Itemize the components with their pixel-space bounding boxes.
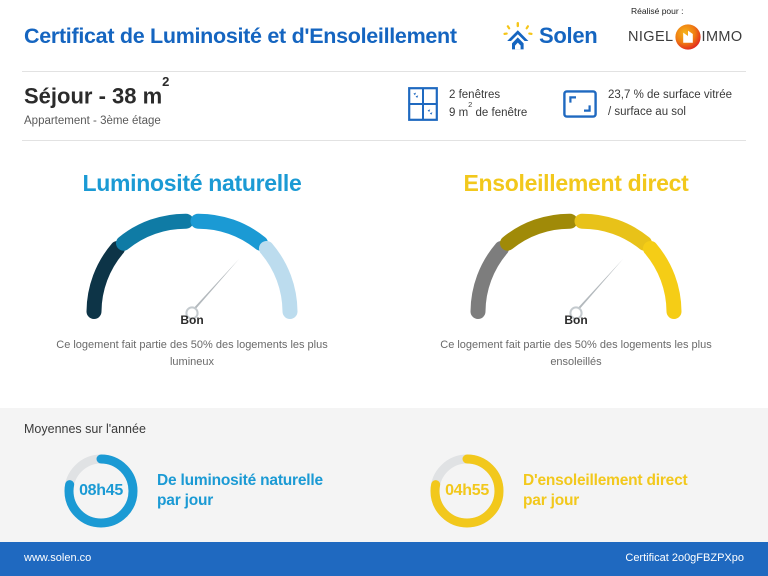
donut-value-ensoleillement: 04h55 (428, 452, 506, 530)
nigel-text-left: NIGEL (628, 29, 674, 45)
room-title-superscript: 2 (162, 74, 169, 89)
average-luminosite: 08h45 De luminosité naturelle par jour (62, 452, 323, 530)
page-title: Certificat de Luminosité et d'Ensoleille… (24, 24, 457, 49)
footer-website-link[interactable]: www.solen.co (24, 552, 91, 564)
gauge-segment-3 (582, 221, 645, 243)
page-header: Certificat de Luminosité et d'Ensoleille… (0, 0, 768, 68)
gauge-needle-luminosite (186, 259, 239, 319)
fact-windows-text: 2 fenêtres 9 m2 de fenêtre (449, 87, 527, 121)
gauge-segment-1 (478, 249, 502, 312)
average-label-luminosite-line1: De luminosité naturelle (157, 472, 323, 489)
gauge-segment-2 (124, 221, 187, 243)
averages-section: Moyennes sur l'année 08h45 De luminosité… (0, 408, 768, 542)
gauge-caption-luminosite: Ce logement fait partie des 50% des loge… (34, 337, 350, 370)
average-label-luminosite: De luminosité naturelle par jour (157, 471, 323, 511)
average-label-ensoleillement-line2: par jour (523, 492, 579, 509)
gauge-dial-ensoleillement (460, 207, 692, 330)
room-title: Séjour - 38 m2 (24, 83, 169, 109)
fact-glazing-line1: 23,7 % de surface vitrée (608, 89, 732, 101)
fact-windows-line1: 2 fenêtres (449, 89, 500, 101)
gauge-segment-3 (198, 221, 261, 243)
solen-wordmark: Solen (539, 23, 597, 49)
average-label-ensoleillement: D'ensoleillement direct par jour (523, 471, 687, 511)
gauge-panel-luminosite: Luminosité naturelle Bon Ce logement fai… (0, 155, 384, 400)
gauge-panel-ensoleillement: Ensoleillement direct Bon Ce logement fa… (384, 155, 768, 400)
fact-glazing-text: 23,7 % de surface vitrée / surface au so… (608, 87, 732, 120)
divider-top (22, 71, 746, 72)
donut-luminosite: 08h45 (62, 452, 140, 530)
divider-middle (22, 140, 746, 141)
fact-windows: 2 fenêtres 9 m2 de fenêtre (408, 87, 527, 121)
realise-pour-label: Réalisé pour : (631, 6, 683, 16)
floor-area-icon (563, 90, 597, 118)
gauge-segment-2 (508, 221, 571, 243)
fact-glazing-line2: / surface au sol (608, 106, 686, 118)
average-ensoleillement: 04h55 D'ensoleillement direct par jour (428, 452, 687, 530)
gauge-needle-ensoleillement (570, 259, 623, 319)
average-label-luminosite-line2: par jour (157, 492, 213, 509)
gauge-segment-4 (651, 249, 675, 312)
fact-glazing-ratio: 23,7 % de surface vitrée / surface au so… (563, 87, 732, 120)
certificate-page: Certificat de Luminosité et d'Ensoleille… (0, 0, 768, 576)
sun-house-icon (503, 22, 533, 50)
fact-windows-line2-sup: 2 (468, 100, 472, 109)
footer-certificate-id: Certificat 2o0gFBZPXpo (625, 552, 744, 564)
gauge-dial-luminosite (76, 207, 308, 330)
gauge-segment-4 (267, 249, 291, 312)
gauge-heading-ensoleillement: Ensoleillement direct (384, 170, 768, 197)
gauge-caption-ensoleillement: Ce logement fait partie des 50% des loge… (418, 337, 734, 370)
average-label-ensoleillement-line1: D'ensoleillement direct (523, 472, 687, 489)
nigel-immo-logo: NIGEL IMMO (628, 24, 743, 50)
page-footer: www.solen.co Certificat 2o0gFBZPXpo (0, 542, 768, 576)
gauge-heading-luminosite: Luminosité naturelle (0, 170, 384, 197)
nigel-house-badge-icon (675, 24, 701, 50)
room-subtitle: Appartement - 3ème étage (24, 115, 161, 127)
gauge-rating-ensoleillement: Bon (384, 313, 768, 327)
fact-windows-line2-post: de fenêtre (472, 107, 527, 119)
gauge-rating-luminosite: Bon (0, 313, 384, 327)
nigel-text-right: IMMO (702, 29, 743, 45)
donut-value-luminosite: 08h45 (62, 452, 140, 530)
averages-title: Moyennes sur l'année (24, 422, 146, 436)
window-grid-icon (408, 87, 438, 121)
solen-logo: Solen (503, 22, 597, 50)
donut-ensoleillement: 04h55 (428, 452, 506, 530)
fact-windows-line2-pre: 9 m (449, 107, 468, 119)
gauge-segment-1 (94, 249, 118, 312)
